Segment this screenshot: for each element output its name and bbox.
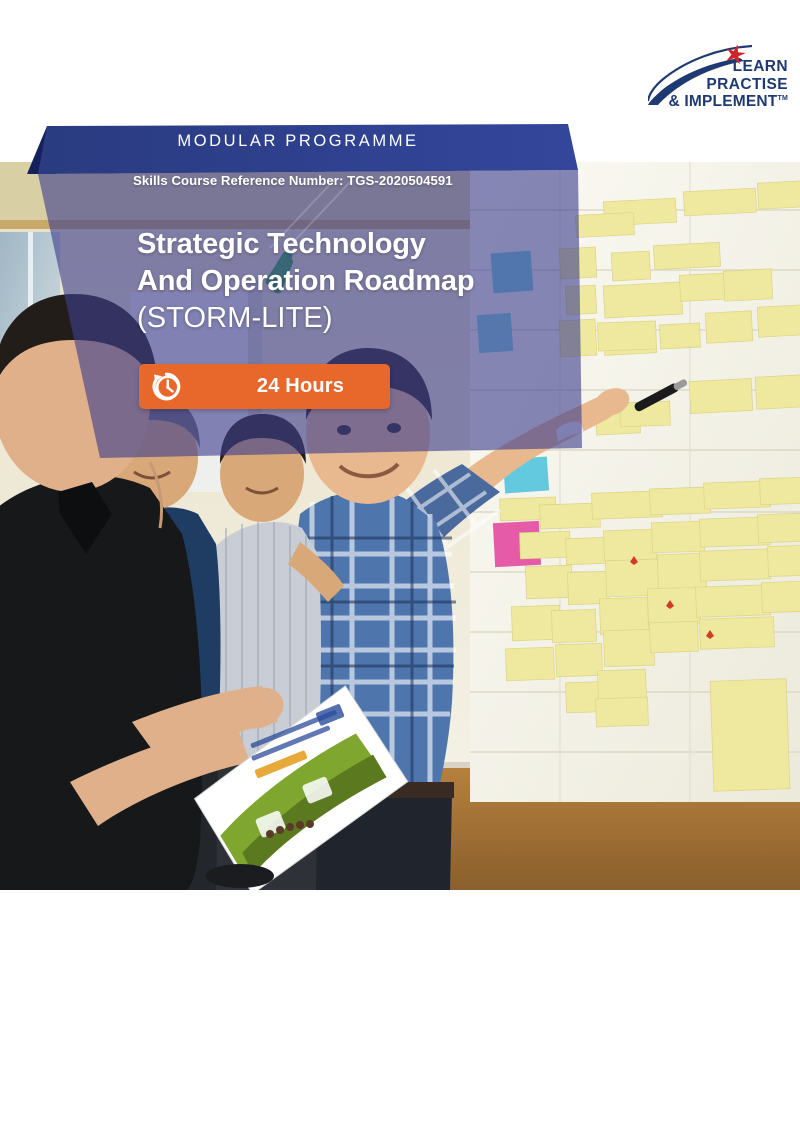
course-title: Strategic Technology And Operation Roadm… [137, 226, 474, 337]
clock-history-icon [151, 371, 182, 402]
logo-wordmark: LEARN PRACTISE & IMPLEMENTTM [669, 58, 789, 111]
duration-badge[interactable]: 24 Hours [139, 364, 390, 409]
course-reference-number: Skills Course Reference Number: TGS-2020… [133, 173, 453, 188]
learn-practise-implement-logo: LEARN PRACTISE & IMPLEMENTTM [648, 38, 788, 114]
logo-line-2: PRACTISE [669, 76, 789, 94]
title-line-1: Strategic Technology [137, 226, 474, 263]
logo-line-1: LEARN [669, 58, 789, 76]
duration-label: 24 Hours [211, 364, 390, 409]
title-line-2: And Operation Roadmap [137, 263, 474, 300]
banner-eyebrow: MODULAR PROGRAMME [38, 132, 558, 151]
footer: Co-organised by: Funded by: Singapore In… [0, 890, 800, 1131]
trademark-symbol: TM [777, 95, 788, 102]
course-brochure-page: LEARN PRACTISE & IMPLEMENTTM [0, 0, 800, 1131]
course-banner: MODULAR PROGRAMME Skills Course Referenc… [0, 118, 800, 458]
logo-line-3: & IMPLEMENTTM [669, 93, 789, 111]
title-line-3: (STORM-LITE) [137, 300, 474, 337]
